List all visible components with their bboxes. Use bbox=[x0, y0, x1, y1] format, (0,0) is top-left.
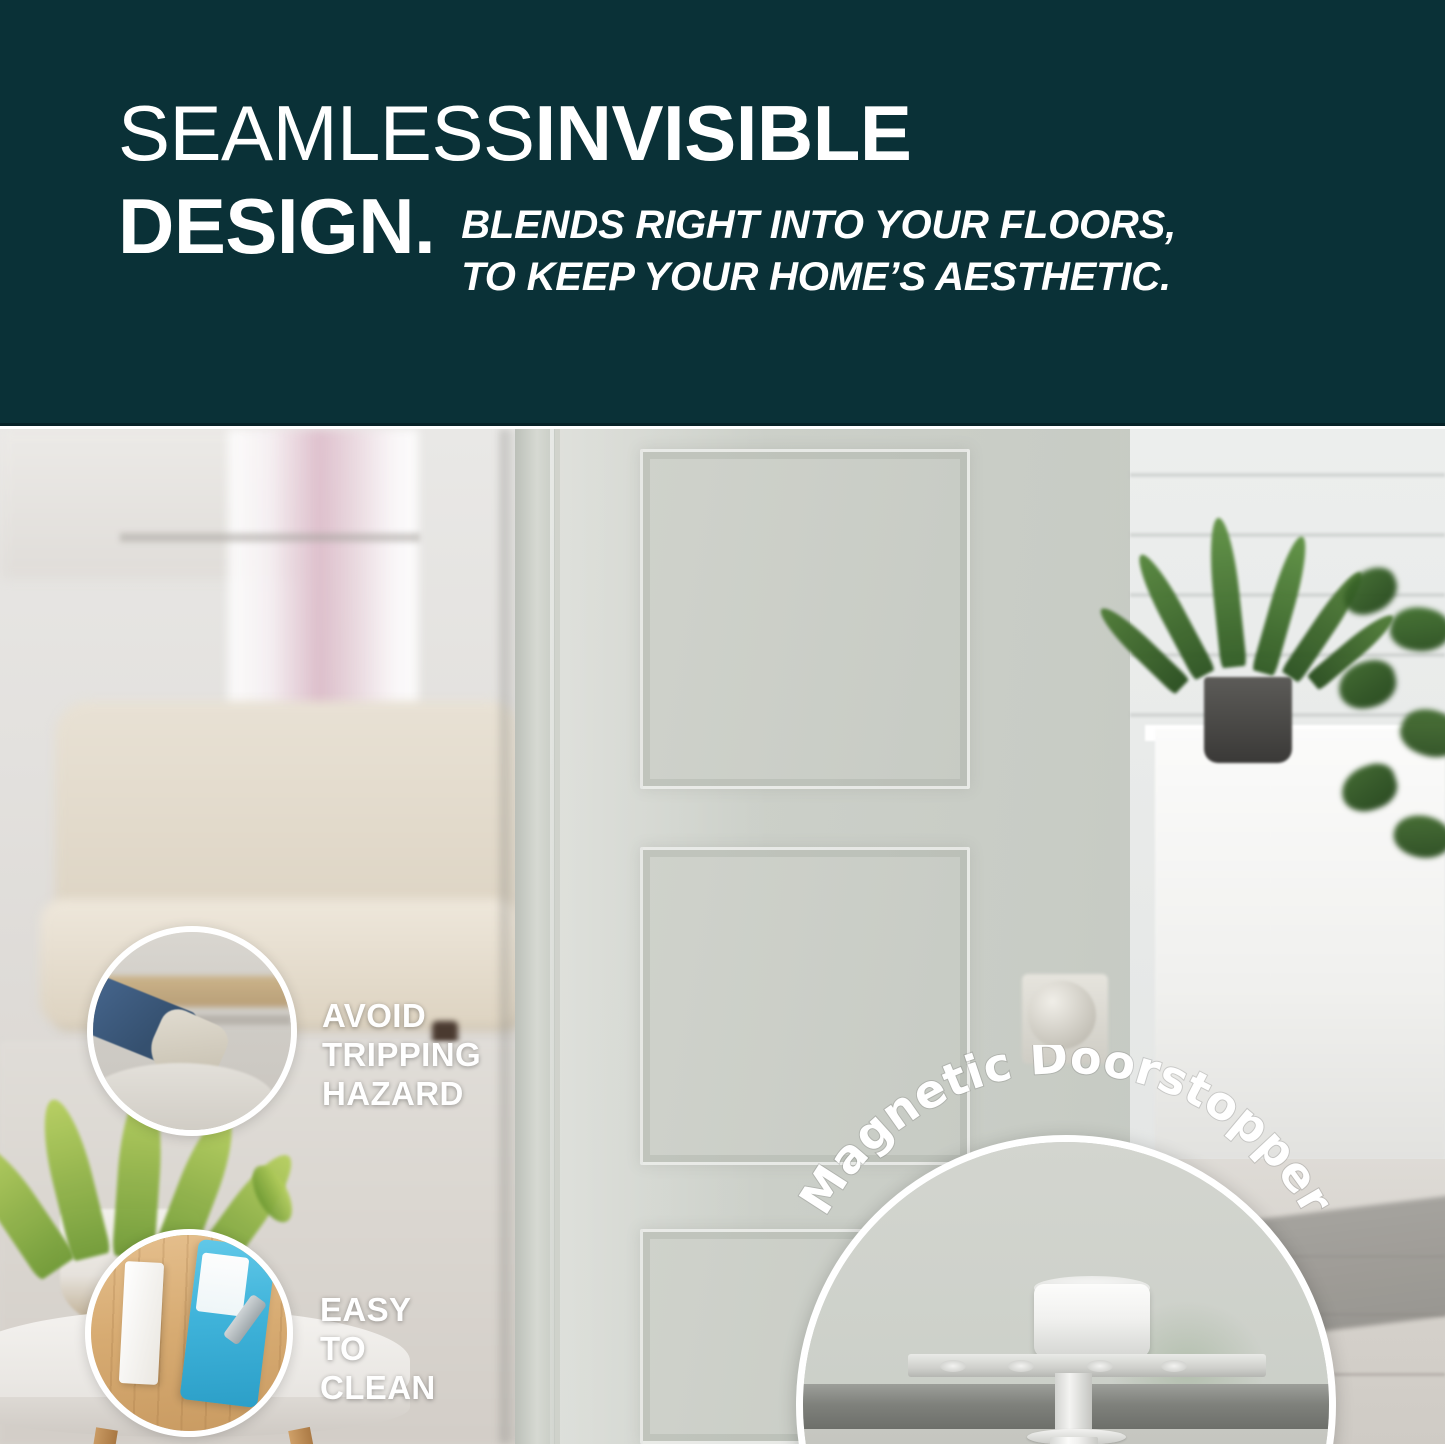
header-banner: SEAMLESS INVISIBLE DESIGN. BLENDS RIGHT … bbox=[0, 0, 1445, 426]
leaf bbox=[1387, 602, 1445, 658]
magnifier-lens bbox=[796, 1135, 1336, 1444]
mop-cleaning-photo bbox=[91, 1235, 287, 1431]
feature-thumbnail-easy-to-clean[interactable] bbox=[85, 1229, 293, 1437]
headline-word-design: DESIGN. bbox=[118, 189, 435, 264]
leaf bbox=[1389, 809, 1445, 865]
leaf bbox=[1394, 701, 1445, 767]
door-panel bbox=[640, 449, 970, 789]
product-lifestyle-photo: AVOID TRIPPING HAZARD EASY TO CLEAN ELIM… bbox=[0, 429, 1445, 1444]
palm-frond bbox=[1205, 516, 1247, 668]
leaf bbox=[1336, 562, 1404, 622]
door-stile-line bbox=[550, 429, 554, 1444]
shiplap-line bbox=[1130, 473, 1445, 477]
leaf bbox=[1334, 655, 1401, 714]
curtain-rod bbox=[120, 533, 420, 542]
palm-plant bbox=[1175, 509, 1350, 689]
feature-thumbnail-avoid-tripping-hazard[interactable] bbox=[87, 926, 297, 1136]
door-knob bbox=[1028, 981, 1096, 1049]
headline-word-seamless: SEAMLESS bbox=[118, 96, 535, 171]
product-shaft-upper bbox=[1055, 1373, 1092, 1436]
magnifying-glass-icon: Magnetic Doorstopper bbox=[796, 1135, 1336, 1444]
feature-label-easy-to-clean: EASY TO CLEAN bbox=[320, 1291, 436, 1408]
product-floor-pin bbox=[1050, 1437, 1097, 1444]
subheadline-block: BLENDS RIGHT INTO YOUR FLOORS, TO KEEP Y… bbox=[461, 189, 1176, 303]
headline-word-invisible: INVISIBLE bbox=[535, 96, 912, 171]
plant-planter bbox=[1204, 677, 1292, 763]
headline-block: SEAMLESS INVISIBLE DESIGN. BLENDS RIGHT … bbox=[118, 96, 1398, 303]
headline-line-2: DESIGN. BLENDS RIGHT INTO YOUR FLOORS, T… bbox=[118, 189, 1398, 303]
subheadline-line-2: TO KEEP YOUR HOME’S AESTHETIC. bbox=[461, 251, 1176, 303]
tripping-hazard-photo bbox=[93, 932, 291, 1130]
headline-line-1: SEAMLESS INVISIBLE bbox=[118, 96, 1398, 171]
product-magnet-cap bbox=[1034, 1284, 1150, 1358]
feature-label-avoid-tripping-hazard: AVOID TRIPPING HAZARD bbox=[322, 997, 481, 1114]
door-panel bbox=[640, 847, 970, 1165]
leaf bbox=[1336, 759, 1403, 818]
foliage-plant bbox=[1340, 569, 1445, 899]
door-edge bbox=[515, 429, 555, 1444]
subheadline-line-1: BLENDS RIGHT INTO YOUR FLOORS, bbox=[461, 199, 1176, 251]
